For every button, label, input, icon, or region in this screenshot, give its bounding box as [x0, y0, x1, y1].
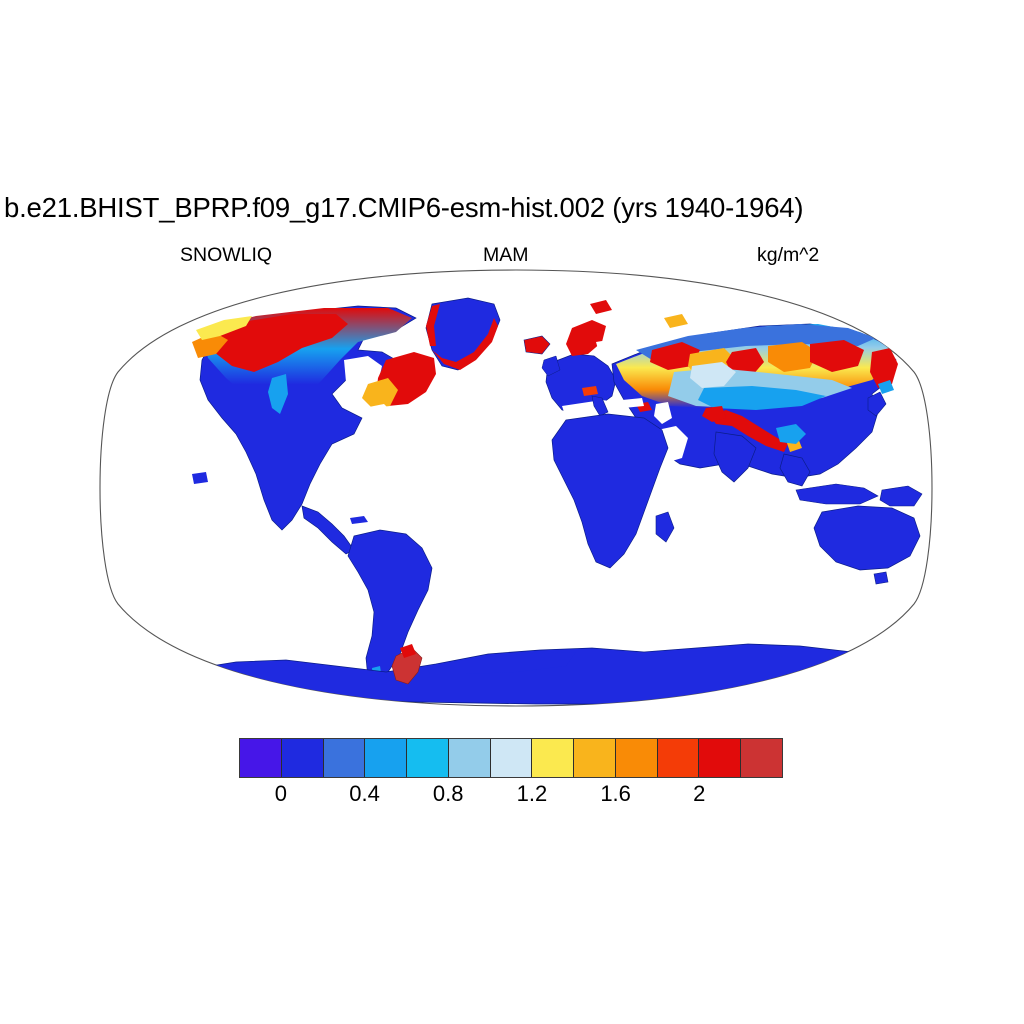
units-label: kg/m^2: [757, 243, 819, 267]
colorbar-swatches[interactable]: [239, 738, 783, 778]
colorbar-swatch-10: [658, 739, 700, 777]
colorbar-swatch-4: [407, 739, 449, 777]
colorbar-swatch-5: [449, 739, 491, 777]
colorbar-swatch-1: [282, 739, 324, 777]
colorbar-swatch-7: [532, 739, 574, 777]
colorbar-tick-0: 0: [275, 781, 287, 807]
colorbar-tick-labels: 00.40.81.21.62: [0, 781, 1024, 811]
colorbar-swatch-8: [574, 739, 616, 777]
colorbar-swatch-0: [240, 739, 282, 777]
colorbar-tick-0.8: 0.8: [433, 781, 464, 807]
colorbar-tick-2: 2: [693, 781, 705, 807]
variable-label: SNOWLIQ: [180, 243, 272, 267]
colorbar-swatch-2: [324, 739, 366, 777]
region-tasmania: [874, 572, 888, 584]
colorbar[interactable]: [239, 738, 783, 778]
region-hawaii: [192, 472, 208, 484]
colorbar-tick-1.6: 1.6: [600, 781, 631, 807]
colorbar-swatch-11: [699, 739, 741, 777]
colorbar-swatch-3: [365, 739, 407, 777]
colorbar-swatch-12: [741, 739, 782, 777]
colorbar-swatch-6: [491, 739, 533, 777]
colorbar-swatch-9: [616, 739, 658, 777]
colorbar-tick-1.2: 1.2: [517, 781, 548, 807]
colorbar-tick-0.4: 0.4: [349, 781, 380, 807]
season-label: MAM: [483, 243, 529, 267]
world-map: [96, 268, 936, 708]
climate-map-figure: b.e21.BHIST_BPRP.f09_g17.CMIP6-esm-hist.…: [0, 0, 1024, 1024]
page-title: b.e21.BHIST_BPRP.f09_g17.CMIP6-esm-hist.…: [4, 192, 1022, 224]
